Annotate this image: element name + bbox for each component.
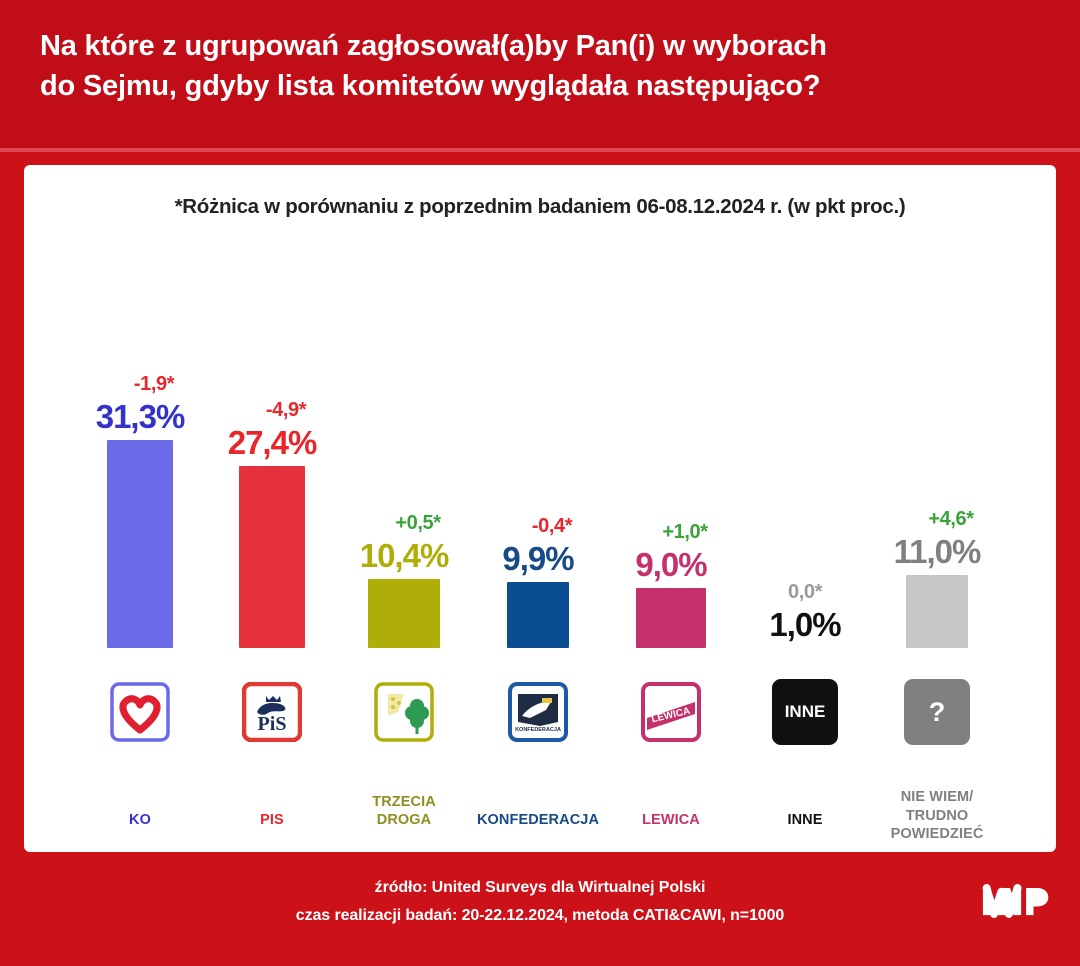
bar-trzecia-droga — [368, 579, 440, 648]
question-mark-icon: ? — [904, 679, 970, 745]
chart-column-nie-wiem: 11,0%+4,6*?NIE WIEM/ TRUDNO POWIEDZIEĆ — [862, 165, 1012, 852]
svg-text:PiS: PiS — [258, 713, 287, 735]
value-label-pis: 27,4% — [228, 424, 317, 462]
party-label-lewica: LEWICA — [596, 811, 746, 830]
chart-column-inne: 1,0%0,0*INNEINNE — [730, 165, 880, 852]
party-label-nie-wiem: NIE WIEM/ TRUDNO POWIEDZIEĆ — [862, 788, 1012, 844]
delta-label-nie-wiem: +4,6* — [928, 508, 973, 531]
trzecia-droga-logo — [371, 679, 437, 745]
svg-text:KONFEDERACJA: KONFEDERACJA — [515, 727, 561, 733]
party-label-ko: KO — [65, 811, 215, 830]
inne-logo: INNE — [772, 679, 838, 745]
delta-label-trzecia-droga: +0,5* — [395, 512, 440, 535]
delta-label-inne: 0,0* — [788, 581, 822, 604]
value-label-nie-wiem: 11,0% — [894, 533, 981, 571]
footer-method: czas realizacji badań: 20-22.12.2024, me… — [0, 907, 1080, 925]
bar-nie-wiem — [906, 575, 968, 648]
party-label-inne: INNE — [730, 811, 880, 830]
value-label-trzecia-droga: 10,4% — [360, 537, 449, 575]
chart-column-ko: 31,3%-1,9*KO — [65, 165, 215, 852]
party-label-konfederacja: KONFEDERACJA — [463, 811, 613, 830]
wp-logo — [978, 878, 1052, 924]
value-label-ko: 31,3% — [96, 398, 185, 436]
header-banner: Na które z ugrupowań zagłosował(a)by Pan… — [0, 0, 1080, 148]
footer-source: źródło: United Surveys dla Wirtualnej Po… — [0, 879, 1080, 897]
delta-label-lewica: +1,0* — [662, 521, 707, 544]
footer: źródło: United Surveys dla Wirtualnej Po… — [0, 860, 1080, 966]
lewica-logo: LEWICA — [638, 679, 704, 745]
bar-ko — [107, 440, 173, 648]
value-label-inne: 1,0% — [769, 606, 840, 644]
header-divider — [0, 148, 1080, 152]
delta-label-pis: -4,9* — [266, 399, 306, 422]
chart-column-lewica: 9,0%+1,0*LEWICALEWICA — [596, 165, 746, 852]
bar-chart: 31,3%-1,9*KO27,4%-4,9*PiSPIS10,4%+0,5*TR… — [24, 165, 1056, 852]
bar-konfederacja — [507, 582, 569, 648]
ko-logo — [107, 679, 173, 745]
chart-column-trzecia-droga: 10,4%+0,5*TRZECIA DROGA — [329, 165, 479, 852]
bar-pis — [239, 466, 305, 648]
bar-lewica — [636, 588, 706, 648]
party-label-trzecia-droga: TRZECIA DROGA — [329, 793, 479, 830]
value-label-lewica: 9,0% — [635, 546, 706, 584]
value-label-konfederacja: 9,9% — [502, 540, 573, 578]
pis-logo: PiS — [239, 679, 305, 745]
delta-label-ko: -1,9* — [134, 373, 174, 396]
konfederacja-logo: KONFEDERACJA — [505, 679, 571, 745]
page-title: Na które z ugrupowań zagłosował(a)by Pan… — [40, 26, 1040, 106]
party-label-pis: PIS — [197, 811, 347, 830]
chart-card: *Różnica w porównaniu z poprzednim badan… — [24, 165, 1056, 852]
chart-column-konfederacja: 9,9%-0,4*KONFEDERACJAKONFEDERACJA — [463, 165, 613, 852]
chart-column-pis: 27,4%-4,9*PiSPIS — [197, 165, 347, 852]
delta-label-konfederacja: -0,4* — [532, 515, 572, 538]
